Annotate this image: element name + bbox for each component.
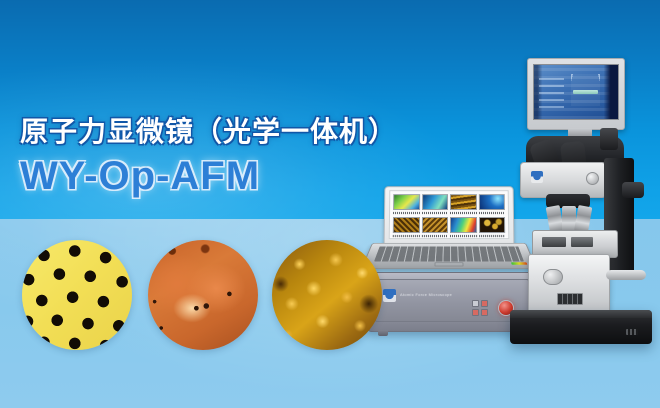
monitor-stand [568,128,592,136]
thumbnail-caption [422,212,448,214]
thumbnail-item [450,217,477,238]
product-model-name: WY-Op-AFM [20,156,397,196]
scan-thumbnail-icon [450,217,477,233]
thumbnail-item [393,217,420,238]
monitor-panel-left [539,73,564,109]
controller-key[interactable] [472,300,479,307]
controller-keypad [472,300,488,316]
microscope-base [510,310,652,344]
monitor-screen [533,64,619,120]
scan-thumbnail-icon [393,217,420,233]
thumbnail-caption [450,212,476,214]
thumbnail-item [422,194,448,215]
stage-translation-shaft [606,270,646,280]
sample-image-copper-topography [148,240,258,350]
sample-image-porous-membrane [22,240,132,350]
focus-knob[interactable] [622,182,644,198]
controller-label: Atomic Force Microscope [400,292,452,297]
illumination-knob[interactable] [586,172,599,185]
lcd-monitor [527,58,625,130]
stage-adjust-knob[interactable] [543,269,563,285]
camera-port [600,128,618,150]
afm-head-slot [542,237,566,247]
microscope-upper-body [520,162,606,198]
scan-thumbnail-icon [393,194,420,210]
thumbnail-item [421,217,448,238]
sample-image-gold-grain [272,240,382,350]
base-top-surface [510,310,652,318]
scan-thumbnail-icon [421,217,448,233]
controller-foot [378,330,388,336]
thumbnail-item [450,194,476,215]
stage-connector-port [557,293,583,305]
base-vent-icon [626,329,638,335]
scan-thumbnail-icon [450,194,476,210]
controller-key[interactable] [481,300,488,307]
headline-group: 原子力显微镜（光学一体机） WY-Op-AFM [20,118,397,196]
sample-stage-module [528,254,610,314]
controller-key[interactable] [481,309,488,316]
product-title-chinese: 原子力显微镜（光学一体机） [20,118,397,146]
wy-logo-icon [531,171,543,183]
optical-afm-microscope [500,58,660,348]
laptop-lid [384,186,515,248]
thumbnail-caption [421,235,448,237]
laptop-screen [389,190,510,239]
laptop-trackpad [434,262,463,266]
afm-head-slot [571,237,593,247]
monitor-highlight-bar [573,90,598,94]
thumbnail-caption [450,235,477,237]
controller-key[interactable] [472,309,479,316]
thumbnail-caption [393,212,419,214]
thumbnail-item [393,194,420,215]
scan-thumbnail-icon [422,194,448,210]
product-banner: 原子力显微镜（光学一体机） WY-Op-AFM [0,0,660,408]
thumbnail-caption [393,235,420,237]
wy-logo-icon [383,289,396,302]
